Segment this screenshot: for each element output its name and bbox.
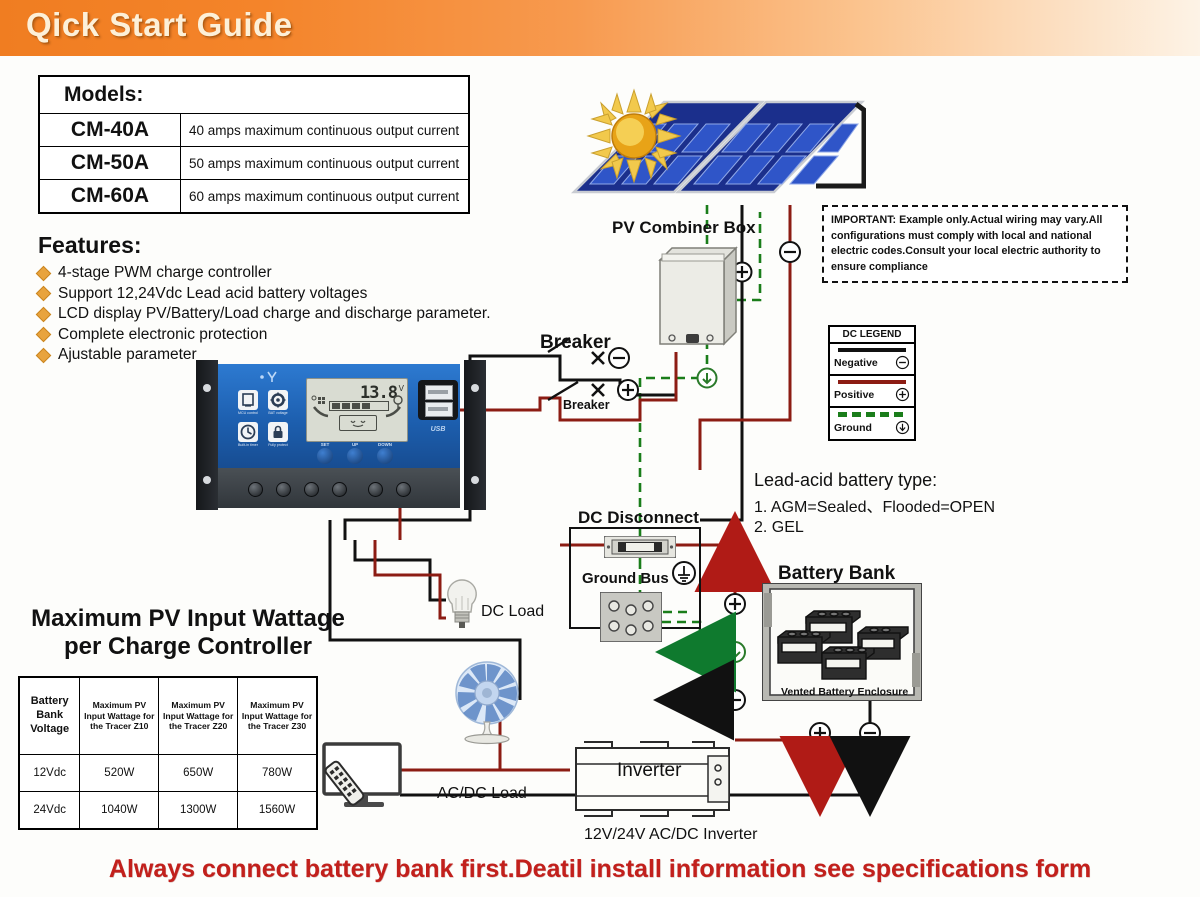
cell-z10: 1040W [80, 792, 159, 830]
dc-legend-box: DC LEGEND Negative Positive Ground [828, 325, 916, 441]
cell-z20: 650W [159, 755, 238, 792]
dc-legend-title: DC LEGEND [830, 327, 914, 344]
brand-logo-icon [260, 370, 282, 384]
fan-blades [456, 662, 518, 724]
battery-type-title: Lead-acid battery type: [754, 470, 1044, 491]
pv-combiner-box-label: PV Combiner Box [612, 218, 756, 238]
feature-label: LCD display PV/Battery/Load charge and d… [58, 305, 491, 323]
electric-fan-icon [448, 660, 526, 746]
usb-port-block[interactable] [418, 380, 458, 420]
minus-circle-icon [895, 355, 910, 370]
important-note-box: IMPORTANT: Example only.Actual wiring ma… [822, 205, 1128, 283]
lcd-panel-icon [311, 395, 331, 421]
battery-type-block: Lead-acid battery type: 1. AGM=Sealed、Fl… [754, 470, 1044, 537]
pv-combiner-box-icon [654, 240, 740, 350]
cell-z10: 520W [80, 755, 159, 792]
controller-lcd-display: 13.8 V [306, 378, 408, 442]
dc-disconnect-label: DC Disconnect [578, 508, 699, 528]
diamond-bullet-icon [36, 347, 52, 363]
controller-faceplate: MCU control BAT voltage Built-in timer F… [218, 364, 460, 468]
feature-label: Support 12,24Vdc Lead acid battery volta… [58, 285, 367, 303]
features-title: Features: [38, 232, 142, 259]
up-button[interactable] [347, 448, 363, 464]
lcd-battery-icon [339, 415, 377, 431]
diamond-bullet-icon [36, 265, 52, 281]
model-name: CM-60A [39, 180, 181, 214]
ground-bus-label: Ground Bus [582, 570, 669, 587]
legend-label: Positive [834, 389, 874, 401]
tile-label: MCU control [235, 411, 261, 415]
diamond-bullet-icon [36, 327, 52, 343]
wattage-title-line2: per Charge Controller [18, 633, 358, 661]
controller-right-bracket [464, 360, 486, 510]
table-row: Models: [39, 76, 469, 114]
battery-bank-label: Battery Bank [778, 563, 895, 585]
cell-z30: 1560W [238, 792, 317, 830]
battery-type-line-1: 1. AGM=Sealed、Flooded=OPEN [754, 493, 1044, 517]
table-row: CM-50A 50 amps maximum continuous output… [39, 147, 469, 180]
lcd-load-icon [384, 395, 404, 421]
column-header: Battery Bank Voltage [19, 677, 80, 755]
fully-protect-tile [268, 422, 288, 442]
battery-type-line-2: 2. GEL [754, 519, 1044, 537]
controller-left-bracket [196, 360, 218, 510]
table-header-row: Battery Bank Voltage Maximum PV Input Wa… [19, 677, 317, 755]
table-row: CM-60A 60 amps maximum continuous output… [39, 180, 469, 214]
wattage-table-title: Maximum PV Input Wattage per Charge Cont… [18, 605, 358, 662]
lcd-charge-bar [329, 401, 389, 411]
model-name: CM-50A [39, 147, 181, 180]
model-desc: 50 amps maximum continuous output curren… [181, 147, 470, 180]
mcu-control-tile [238, 390, 258, 410]
legend-label: Negative [834, 357, 878, 369]
wattage-title-line1: Maximum PV Input Wattage [18, 605, 358, 633]
legend-row-ground: Ground [830, 408, 914, 439]
inverter-label: Inverter [617, 760, 681, 782]
feature-label: 4-stage PWM charge controller [58, 264, 272, 282]
built-in-timer-tile [238, 422, 258, 442]
charge-controller-device[interactable]: MCU control BAT voltage Built-in timer F… [196, 360, 486, 510]
button-label: DOWN [375, 442, 395, 447]
dc-load-label: DC Load [481, 603, 544, 621]
model-desc: 40 amps maximum continuous output curren… [181, 114, 470, 147]
list-item: Support 12,24Vdc Lead acid battery volta… [38, 285, 518, 303]
features-list: 4-stage PWM charge controller Support 12… [38, 264, 518, 367]
model-name: CM-40A [39, 114, 181, 147]
cell-voltage: 12Vdc [19, 755, 80, 792]
cell-z30: 780W [238, 755, 317, 792]
solar-panel-array-icon [566, 74, 866, 219]
legend-row-positive: Positive [830, 376, 914, 408]
inverter-caption: 12V/24V AC/DC Inverter [584, 826, 757, 844]
table-row: 24Vdc 1040W 1300W 1560W [19, 792, 317, 830]
diamond-bullet-icon [36, 306, 52, 322]
column-header: Maximum PV Input Wattage for the Tracer … [80, 677, 159, 755]
down-button[interactable] [377, 448, 393, 464]
cell-z20: 1300W [159, 792, 238, 830]
diamond-bullet-icon [36, 286, 52, 302]
legend-row-negative: Negative [830, 344, 914, 376]
usb-label: USB [418, 426, 458, 433]
breaker-x-marks [592, 352, 604, 396]
legend-label: Ground [834, 422, 872, 434]
feature-label: Complete electronic protection [58, 326, 267, 344]
bottom-warning-text: Always connect battery bank first.Deatil… [0, 855, 1200, 884]
ground-wire-swatch [838, 412, 906, 417]
dc-load-bulb-icon [444, 578, 480, 632]
lcd-voltage-unit: V [399, 384, 404, 393]
list-item: 4-stage PWM charge controller [38, 264, 518, 282]
wattage-table: Battery Bank Voltage Maximum PV Input Wa… [18, 676, 318, 830]
table-row: CM-40A 40 amps maximum continuous output… [39, 114, 469, 147]
feature-label: Ajustable parameter [58, 346, 197, 364]
list-item: Complete electronic protection [38, 326, 518, 344]
positive-wire-swatch [838, 380, 906, 384]
models-table: Models: CM-40A 40 amps maximum continuou… [38, 75, 470, 214]
sun-icon [588, 90, 680, 182]
model-desc: 60 amps maximum continuous output curren… [181, 180, 470, 214]
bat-voltage-tile [268, 390, 288, 410]
button-label: UP [345, 442, 365, 447]
negative-wire-swatch [838, 348, 906, 352]
controller-terminal-strip [218, 468, 460, 508]
vented-battery-enclosure-icon [762, 583, 922, 701]
set-button[interactable] [317, 448, 333, 464]
ac-dc-load-label: AC/DC Load [437, 785, 527, 803]
models-heading: Models: [39, 76, 469, 114]
breaker-label-bottom: Breaker [563, 398, 610, 412]
tv-monitor-icon [318, 742, 412, 814]
table-row: 12Vdc 520W 650W 780W [19, 755, 317, 792]
tile-label: Fully protect [265, 443, 291, 447]
vented-enclosure-label: Vented Battery Enclosure [781, 686, 908, 698]
cell-voltage: 24Vdc [19, 792, 80, 830]
ground-bus-bar-icon [600, 592, 662, 642]
column-header: Maximum PV Input Wattage for the Tracer … [159, 677, 238, 755]
breaker-label-top: Breaker [540, 332, 611, 354]
ground-symbol-icon [673, 562, 695, 584]
tile-label: Built-in timer [235, 443, 261, 447]
list-item: LCD display PV/Battery/Load charge and d… [38, 305, 518, 323]
column-header: Maximum PV Input Wattage for the Tracer … [238, 677, 317, 755]
tile-label: BAT voltage [265, 411, 291, 415]
dc-disconnect-switch-icon [604, 536, 676, 558]
ground-arrow-circle-icon [895, 420, 910, 435]
button-label: SET [315, 442, 335, 447]
plus-circle-icon [895, 387, 910, 402]
